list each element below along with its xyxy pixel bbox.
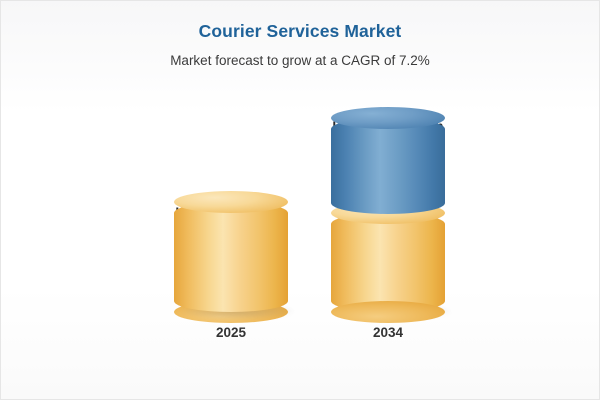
bar-cylinder-2034[interactable] xyxy=(331,118,445,312)
page-title: Courier Services Market xyxy=(1,21,599,42)
bar-cylinder-2025[interactable] xyxy=(174,202,288,312)
chart-footer: https://www.researchandmarkets.com/repor… xyxy=(1,0,599,1)
bar-segment-base-2034 xyxy=(331,213,445,312)
bar-bottom-cap-2034 xyxy=(331,301,445,323)
bar-segment-base-2025 xyxy=(174,202,288,312)
bar-segment-growth-2034 xyxy=(331,118,445,214)
bar-top-cap-2025 xyxy=(174,191,288,213)
market-forecast-chart-card: Courier Services Market Market forecast … xyxy=(0,0,600,400)
category-label-2025: 2025 xyxy=(146,325,316,340)
bar-top-cap-2034 xyxy=(331,107,445,129)
chart-plot-area: USD 417.8 Billion 2025 USD 782.1 Billion xyxy=(1,81,599,346)
chart-subtitle: Market forecast to grow at a CAGR of 7.2… xyxy=(1,53,599,68)
category-label-2034: 2034 xyxy=(303,325,473,340)
